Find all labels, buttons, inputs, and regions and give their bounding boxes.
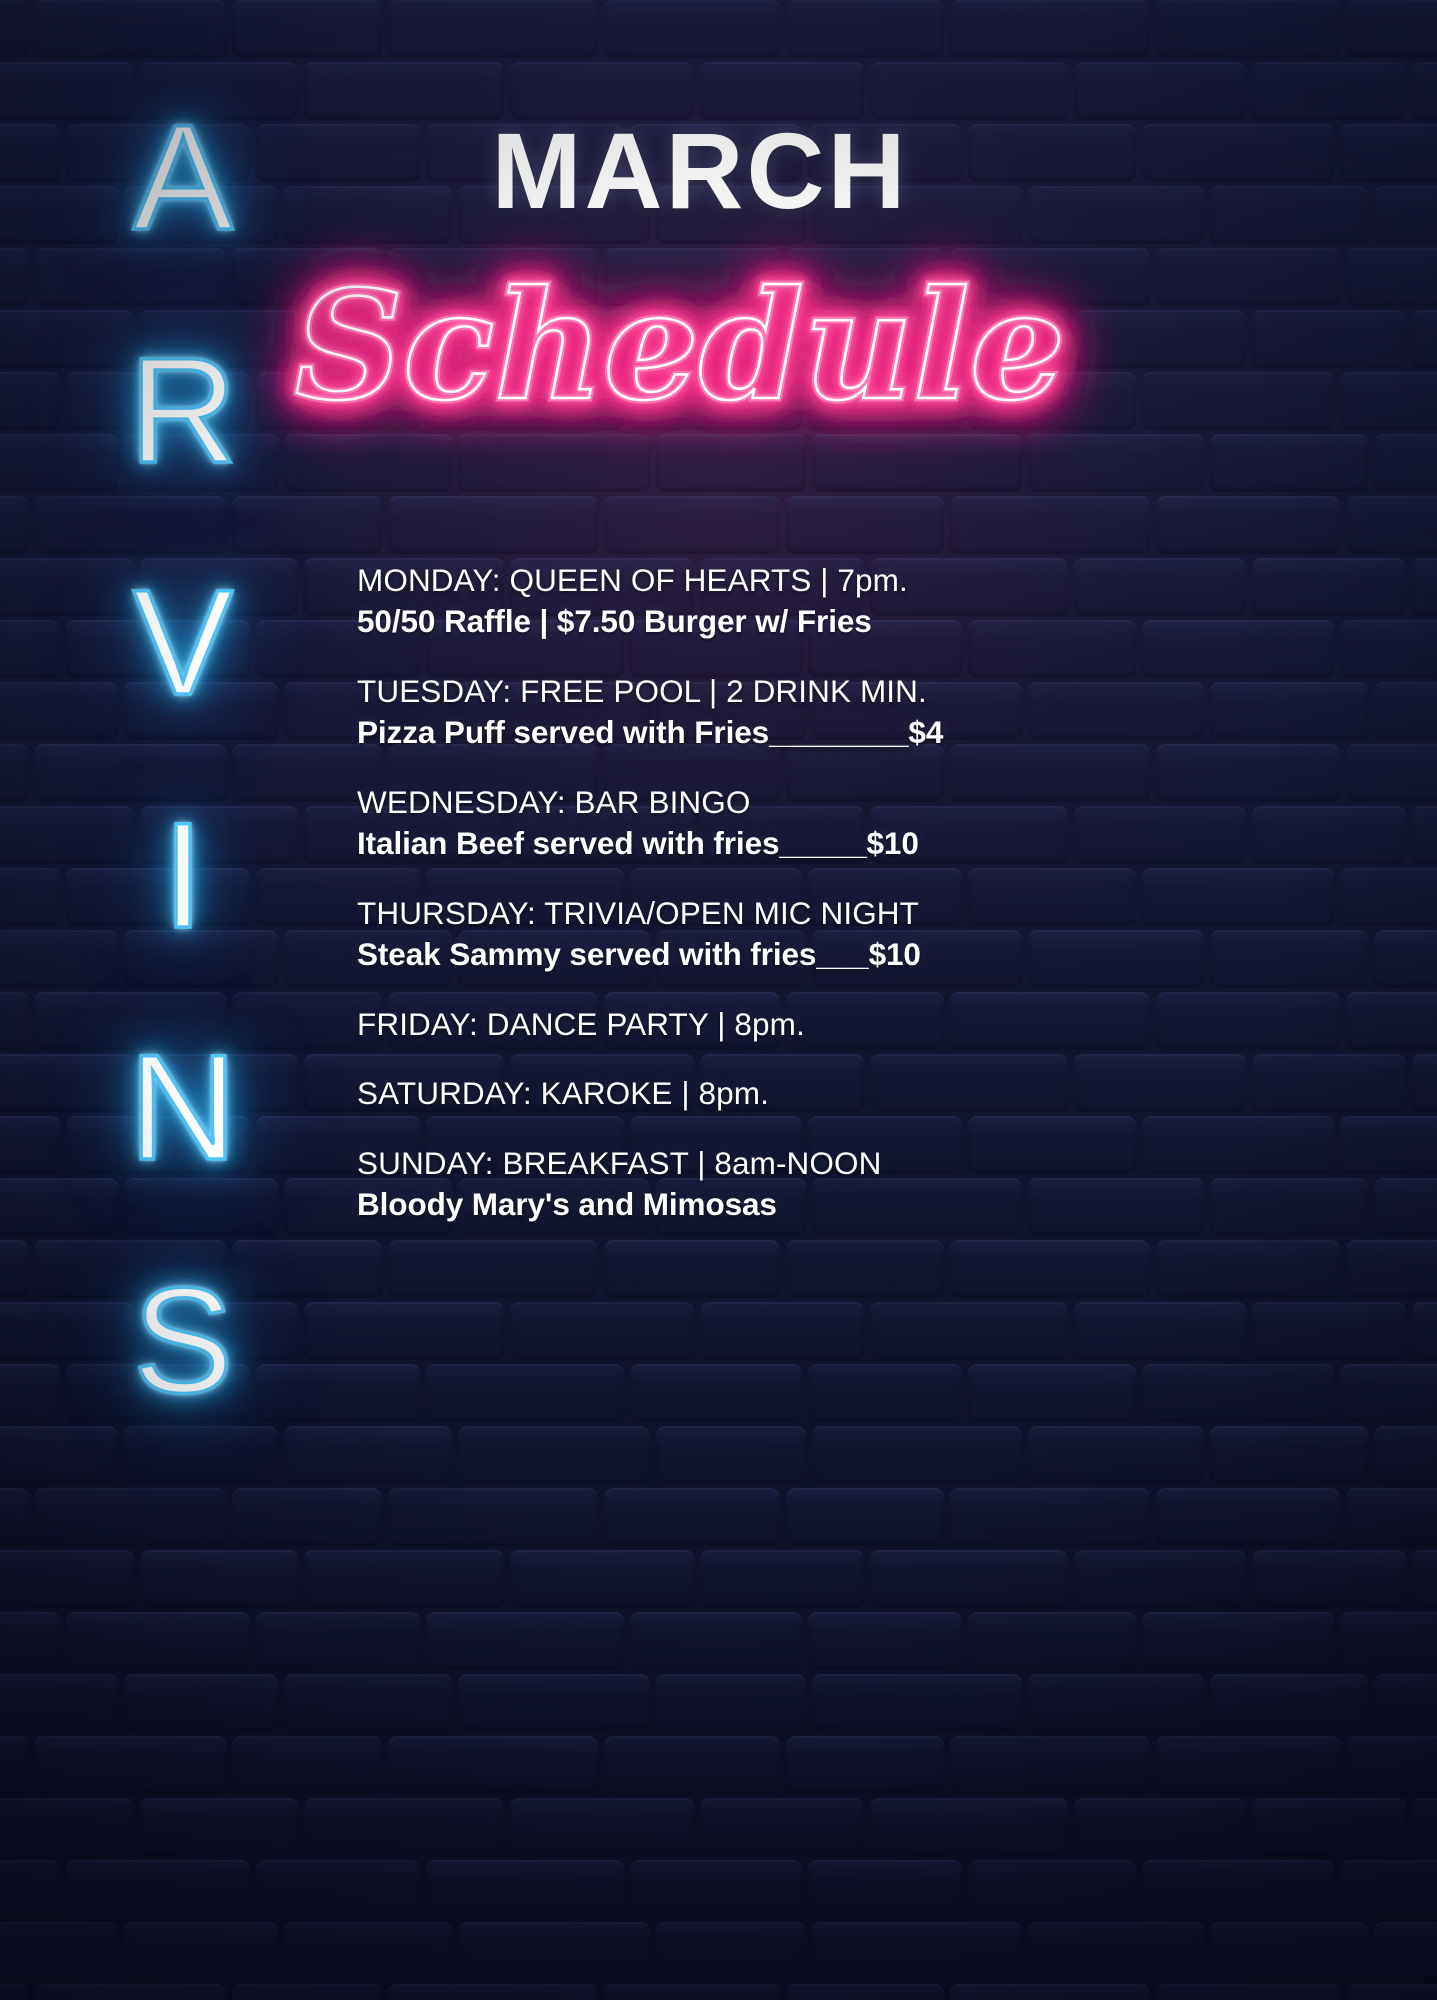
brick-row: [0, 1860, 1437, 1922]
brick: [0, 1860, 60, 1918]
brick: [950, 1488, 1150, 1546]
brick: [786, 0, 944, 58]
brick: [458, 1674, 650, 1732]
schedule-list: MONDAY: QUEEN OF HEARTS | 7pm. 50/50 Raf…: [357, 560, 1057, 1225]
brick: [1412, 62, 1437, 120]
brick: [0, 1922, 118, 1980]
brick: [232, 1736, 382, 1794]
neon-letter-n: N: [129, 1034, 237, 1181]
brick: [388, 0, 598, 58]
neon-letter-v: V: [133, 569, 233, 716]
brick: [656, 1922, 806, 1980]
brick: [1210, 1426, 1368, 1484]
brick: [1210, 930, 1368, 988]
brick: [700, 1302, 864, 1360]
brick: [0, 124, 60, 182]
month-title: MARCH: [420, 108, 980, 233]
brick: [1346, 744, 1437, 802]
brick: [1074, 558, 1246, 616]
brick: [1028, 1922, 1204, 1980]
brick: [1156, 0, 1340, 58]
brick: [1252, 1550, 1406, 1608]
entry-headline: FRIDAY: DANCE PARTY | 8pm.: [357, 1004, 1057, 1045]
brick: [304, 1550, 504, 1608]
brick: [968, 124, 1136, 182]
brick: [1374, 186, 1437, 244]
brick: [124, 1674, 278, 1732]
entry-headline: THURSDAY: TRIVIA/OPEN MIC NIGHT: [357, 893, 1057, 934]
brick: [426, 1612, 624, 1670]
brick: [604, 496, 780, 554]
brick: [1142, 1116, 1334, 1174]
brick: [0, 992, 28, 1050]
brick: [66, 1860, 250, 1918]
brick: [1074, 806, 1246, 864]
neon-bar-schedule-poster: A R V I N S MARCH: [0, 0, 1437, 2000]
brick: [1340, 620, 1437, 678]
brick: [140, 1798, 298, 1856]
brick: [140, 1550, 298, 1608]
brick: [1346, 248, 1437, 306]
brick: [510, 1302, 694, 1360]
brick: [1252, 1798, 1406, 1856]
brick: [812, 1426, 1022, 1484]
brick: [1346, 496, 1437, 554]
brick: [1374, 1674, 1437, 1732]
brick: [388, 1240, 598, 1298]
brick: [256, 1612, 420, 1670]
brick: [1374, 1426, 1437, 1484]
brick: [786, 1984, 944, 2000]
brick: [1252, 1054, 1406, 1112]
brick: [0, 496, 28, 554]
brick: [1340, 1364, 1437, 1422]
brick: [0, 372, 60, 430]
schedule-entry-friday: FRIDAY: DANCE PARTY | 8pm.: [357, 1004, 1057, 1045]
brick: [510, 1550, 694, 1608]
brick: [1374, 1922, 1437, 1980]
brick: [1074, 62, 1246, 120]
brick: [1142, 124, 1334, 182]
brick-row: [0, 1550, 1437, 1612]
neon-letter-i: I: [162, 802, 204, 949]
brick: [1074, 1550, 1246, 1608]
brick: [232, 1984, 382, 2000]
schedule-core: Schedule: [295, 258, 1066, 434]
brick: [968, 1364, 1136, 1422]
brick: [786, 496, 944, 554]
schedule-entry-saturday: SATURDAY: KAROKE | 8pm.: [357, 1073, 1057, 1114]
brick: [458, 1426, 650, 1484]
brick: [1028, 434, 1204, 492]
brick: [1340, 1116, 1437, 1174]
brick: [1142, 1612, 1334, 1670]
brick: [1156, 496, 1340, 554]
brick: [1156, 744, 1340, 802]
entry-headline: SUNDAY: BREAKFAST | 8am-NOON: [357, 1143, 1057, 1184]
brick: [968, 1612, 1136, 1670]
brick: [870, 1798, 1068, 1856]
brick: [1028, 1426, 1204, 1484]
schedule-entry-tuesday: TUESDAY: FREE POOL | 2 DRINK MIN. Pizza …: [357, 671, 1057, 753]
brick: [124, 1426, 278, 1484]
brick: [256, 124, 420, 182]
brick: [256, 1860, 420, 1918]
brick: [0, 1240, 28, 1298]
brick: [66, 1612, 250, 1670]
brick: [388, 1984, 598, 2000]
brick-row: [0, 1426, 1437, 1488]
brick: [0, 1550, 134, 1608]
brick: [950, 496, 1150, 554]
brick-row: [0, 1984, 1437, 2000]
brick: [34, 1736, 226, 1794]
neon-letter-a: A: [133, 104, 233, 251]
brick: [1142, 620, 1334, 678]
entry-detail: Bloody Mary's and Mimosas: [357, 1184, 1057, 1225]
brick: [1028, 1674, 1204, 1732]
schedule-script-neon: Schedule Schedule Schedule Schedule: [330, 248, 1030, 463]
brick: [950, 0, 1150, 58]
brick: [34, 1984, 226, 2000]
brick: [1346, 1984, 1437, 2000]
brick-row: [0, 1674, 1437, 1736]
schedule-entry-wednesday: WEDNESDAY: BAR BINGO Italian Beef served…: [357, 782, 1057, 864]
brick: [284, 1674, 452, 1732]
brick: [1210, 1674, 1368, 1732]
brick: [1412, 806, 1437, 864]
brick: [950, 1736, 1150, 1794]
brick: [1142, 372, 1334, 430]
brick: [968, 1860, 1136, 1918]
brick: [604, 0, 780, 58]
schedule-entry-thursday: THURSDAY: TRIVIA/OPEN MIC NIGHT Steak Sa…: [357, 893, 1057, 975]
brick: [124, 1922, 278, 1980]
brick: [1412, 1302, 1437, 1360]
brick: [1156, 1984, 1340, 2000]
venue-name-vertical-neon: A R V I N S: [88, 104, 278, 1414]
brick: [1142, 1860, 1334, 1918]
brick: [1340, 372, 1437, 430]
brick: [1412, 310, 1437, 368]
brick: [1156, 1736, 1340, 1794]
brick: [808, 1860, 962, 1918]
brick: [1252, 62, 1406, 120]
brick: [1374, 930, 1437, 988]
schedule-entry-sunday: SUNDAY: BREAKFAST | 8am-NOON Bloody Mary…: [357, 1143, 1057, 1225]
brick: [950, 1984, 1150, 2000]
brick: [1340, 124, 1437, 182]
brick: [0, 868, 60, 926]
brick: [388, 1736, 598, 1794]
brick: [388, 1488, 598, 1546]
brick: [1374, 682, 1437, 740]
brick: [0, 0, 28, 58]
neon-letter-s: S: [133, 1267, 233, 1414]
brick: [604, 1488, 780, 1546]
brick: [1346, 1240, 1437, 1298]
brick: [1156, 1240, 1340, 1298]
brick: [1142, 1364, 1334, 1422]
brick: [1252, 806, 1406, 864]
brick: [1156, 248, 1340, 306]
brick: [0, 1674, 118, 1732]
brick: [1156, 1488, 1340, 1546]
brick: [1210, 186, 1368, 244]
brick: [0, 1116, 60, 1174]
brick: [812, 1922, 1022, 1980]
entry-detail: Italian Beef served with fries_____$10: [357, 823, 1057, 864]
entry-headline: SATURDAY: KAROKE | 8pm.: [357, 1073, 1057, 1114]
brick: [1074, 1798, 1246, 1856]
brick: [232, 1488, 382, 1546]
brick: [284, 1922, 452, 1980]
brick: [630, 1364, 802, 1422]
brick: [1346, 992, 1437, 1050]
brick: [0, 1798, 134, 1856]
brick: [0, 1736, 28, 1794]
brick: [700, 1550, 864, 1608]
entry-headline: MONDAY: QUEEN OF HEARTS | 7pm.: [357, 560, 1057, 601]
brick: [1346, 0, 1437, 58]
brick: [0, 1426, 118, 1484]
brick-row: [0, 1922, 1437, 1984]
brick: [604, 1736, 780, 1794]
entry-detail: 50/50 Raffle | $7.50 Burger w/ Fries: [357, 601, 1057, 642]
brick: [1346, 1488, 1437, 1546]
brick: [1340, 1612, 1437, 1670]
brick: [870, 1302, 1068, 1360]
schedule-entry-monday: MONDAY: QUEEN OF HEARTS | 7pm. 50/50 Raf…: [357, 560, 1057, 642]
brick: [786, 1240, 944, 1298]
brick: [1074, 310, 1246, 368]
brick: [1252, 558, 1406, 616]
brick: [0, 1488, 28, 1546]
brick: [808, 1364, 962, 1422]
brick: [510, 1798, 694, 1856]
brick: [0, 1984, 28, 2000]
brick: [812, 1674, 1022, 1732]
brick: [1210, 1178, 1368, 1236]
brick: [1374, 434, 1437, 492]
brick: [304, 1798, 504, 1856]
brick: [1412, 1550, 1437, 1608]
brick: [1028, 186, 1204, 244]
brick: [1346, 1736, 1437, 1794]
brick: [700, 1798, 864, 1856]
brick: [1156, 992, 1340, 1050]
brick: [426, 1860, 624, 1918]
brick: [1340, 868, 1437, 926]
brick: [0, 248, 28, 306]
brick: [630, 1612, 802, 1670]
entry-headline: TUESDAY: FREE POOL | 2 DRINK MIN.: [357, 671, 1057, 712]
brick: [1412, 1054, 1437, 1112]
brick: [656, 1674, 806, 1732]
brick: [284, 1426, 452, 1484]
brick: [786, 1736, 944, 1794]
brick: [256, 1364, 420, 1422]
brick: [304, 1302, 504, 1360]
brick: [656, 1426, 806, 1484]
brick: [34, 0, 226, 58]
brick-row: [0, 0, 1437, 62]
brick: [786, 1488, 944, 1546]
brick: [458, 1922, 650, 1980]
brick-row: [0, 1612, 1437, 1674]
schedule-script-svg: Schedule Schedule Schedule Schedule: [330, 248, 1030, 463]
brick: [426, 1364, 624, 1422]
brick: [34, 1488, 226, 1546]
brick: [1412, 558, 1437, 616]
brick: [388, 496, 598, 554]
neon-letter-r: R: [129, 337, 237, 484]
brick: [604, 1984, 780, 2000]
brick: [870, 1550, 1068, 1608]
brick: [0, 1364, 60, 1422]
brick: [1142, 868, 1334, 926]
brick: [1074, 1302, 1246, 1360]
brick: [1074, 1054, 1246, 1112]
brick-row: [0, 1736, 1437, 1798]
brick-row: [0, 1488, 1437, 1550]
brick: [808, 1612, 962, 1670]
brick: [0, 744, 28, 802]
brick: [232, 0, 382, 58]
brick: [1412, 1798, 1437, 1856]
brick-row: [0, 1798, 1437, 1860]
brick: [1252, 310, 1406, 368]
brick: [0, 620, 60, 678]
brick: [630, 1860, 802, 1918]
brick: [1252, 1302, 1406, 1360]
brick: [1210, 434, 1368, 492]
entry-detail: Pizza Puff served with Fries________$4: [357, 712, 1057, 753]
entry-detail: Steak Sammy served with fries___$10: [357, 934, 1057, 975]
entry-headline: WEDNESDAY: BAR BINGO: [357, 782, 1057, 823]
brick: [950, 1240, 1150, 1298]
brick: [604, 1240, 780, 1298]
brick: [1340, 1860, 1437, 1918]
brick: [1374, 1178, 1437, 1236]
brick: [0, 1612, 60, 1670]
brick: [1210, 1922, 1368, 1980]
brick: [1210, 682, 1368, 740]
